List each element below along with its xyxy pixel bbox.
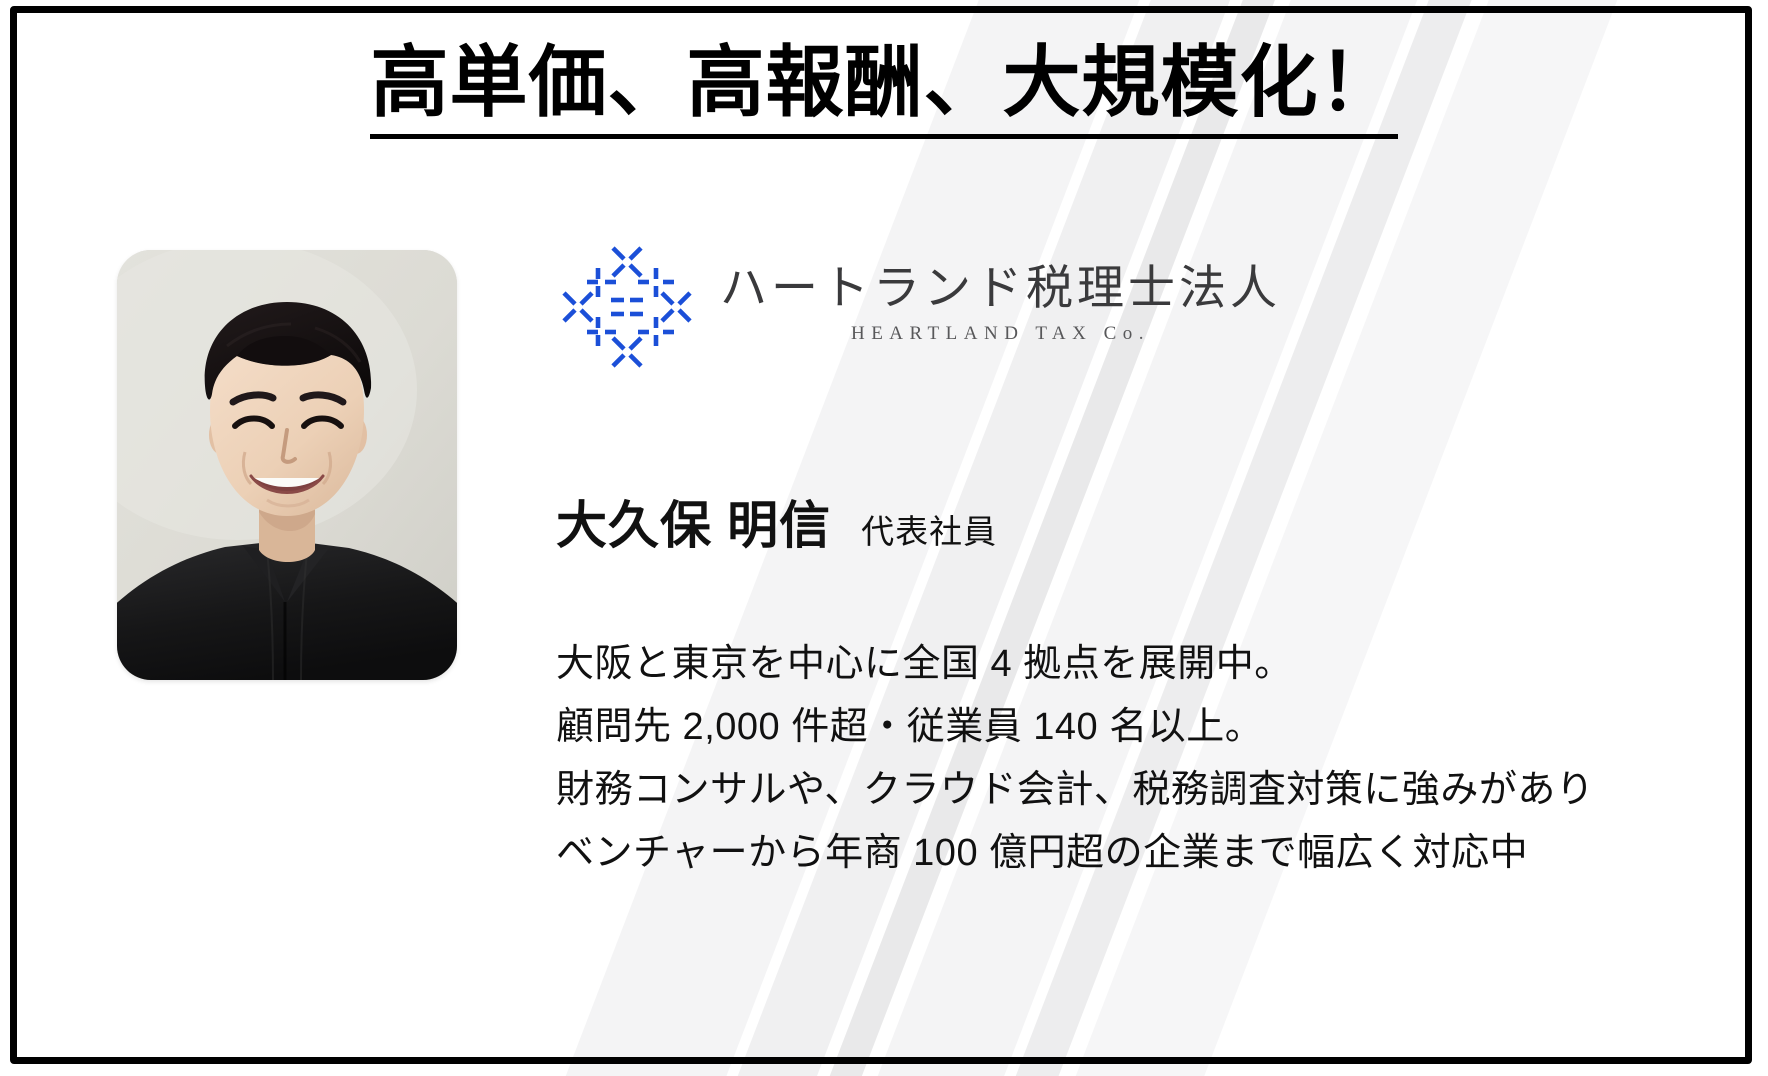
person-name: 大久保 明信 xyxy=(556,484,831,558)
description-block: 大阪と東京を中心に全国 4 拠点を展開中。 顧問先 2,000 件超・従業員 1… xyxy=(556,633,1656,885)
company-subtitle: HEARTLAND TAX Co. xyxy=(720,323,1281,345)
right-content-column: ハートランド税理士法人 HEARTLAND TAX Co. 大久保 明信 代表社… xyxy=(556,232,1656,885)
description-line: 大阪と東京を中心に全国 4 拠点を展開中。 xyxy=(556,633,1656,696)
person-row: 大久保 明信 代表社員 xyxy=(556,484,1656,558)
person-title: 代表社員 xyxy=(861,505,997,553)
slide-title-block: 高単価、高報酬、大規模化！ xyxy=(0,44,1768,139)
portrait-photo xyxy=(117,250,457,680)
company-logo-row: ハートランド税理士法人 HEARTLAND TAX Co. xyxy=(556,232,1656,382)
company-name: ハートランド税理士法人 xyxy=(720,265,1281,314)
description-line: ベンチャーから年商 100 億円超の企業まで幅広く対応中 xyxy=(556,822,1656,885)
description-line: 顧問先 2,000 件超・従業員 140 名以上。 xyxy=(556,696,1656,759)
company-logo-text: ハートランド税理士法人 HEARTLAND TAX Co. xyxy=(720,265,1281,349)
slide-title: 高単価、高報酬、大規模化！ xyxy=(370,44,1397,139)
slide-canvas: 高単価、高報酬、大規模化！ xyxy=(0,0,1768,1076)
heartland-diamond-logo-icon xyxy=(556,236,698,378)
description-line: 財務コンサルや、クラウド会計、税務調査対策に強みがあり xyxy=(556,759,1656,822)
